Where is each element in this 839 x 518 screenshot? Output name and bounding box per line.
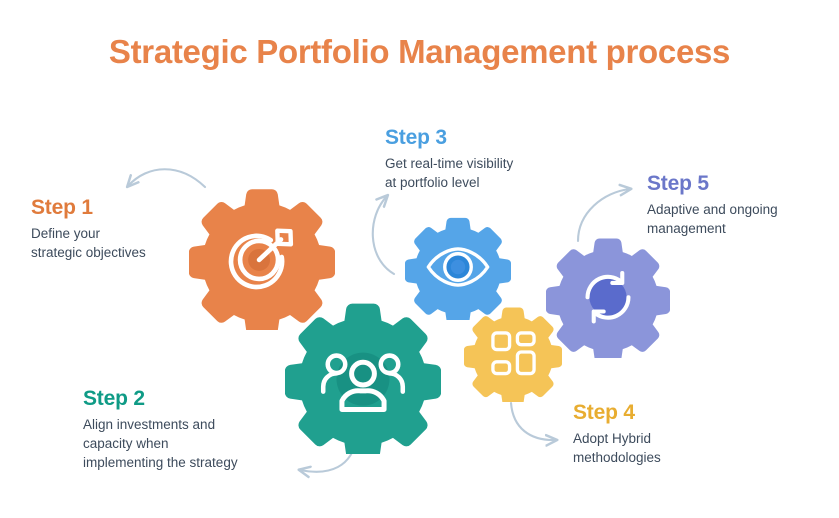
step-3-line-1: Get real-time visibility: [385, 154, 513, 173]
step-4-description: Adopt Hybrid methodologies: [573, 429, 661, 467]
arrow-to-step-3: [373, 196, 394, 274]
step-4-line-1: Adopt Hybrid: [573, 429, 661, 448]
infographic-canvas: Strategic Portfolio Management process: [0, 0, 839, 518]
gear-step-2[interactable]: [285, 298, 441, 454]
step-2-line-2: capacity when: [83, 434, 238, 453]
step-5-line-2: management: [647, 219, 778, 238]
step-5-heading: Step 5: [647, 172, 778, 195]
step-2-line-1: Align investments and: [83, 415, 238, 434]
page-title: Strategic Portfolio Management process: [0, 33, 839, 71]
step-1-line-1: Define your: [31, 224, 146, 243]
step-4-line-2: methodologies: [573, 448, 661, 467]
step-2-line-3: implementing the strategy: [83, 453, 238, 472]
step-block-2: Step 2 Align investments and capacity wh…: [83, 387, 238, 473]
gear-shape-2: [285, 298, 441, 454]
step-2-description: Align investments and capacity when impl…: [83, 415, 238, 472]
step-block-4: Step 4 Adopt Hybrid methodologies: [573, 401, 661, 467]
step-2-heading: Step 2: [83, 387, 238, 410]
arrow-to-step-4: [511, 403, 556, 440]
step-1-heading: Step 1: [31, 196, 146, 219]
step-3-heading: Step 3: [385, 126, 513, 149]
step-3-line-2: at portfolio level: [385, 173, 513, 192]
step-3-description: Get real-time visibility at portfolio le…: [385, 154, 513, 192]
gear-step-5[interactable]: [546, 234, 670, 358]
step-1-description: Define your strategic objectives: [31, 224, 146, 262]
step-block-1: Step 1 Define your strategic objectives: [31, 196, 146, 262]
refresh-sync-icon: [588, 273, 629, 321]
gear-shape-5: [546, 234, 670, 358]
step-4-heading: Step 4: [573, 401, 661, 424]
step-block-5: Step 5 Adaptive and ongoing management: [647, 172, 778, 238]
step-block-3: Step 3 Get real-time visibility at portf…: [385, 126, 513, 192]
step-5-line-1: Adaptive and ongoing: [647, 200, 778, 219]
step-1-line-2: strategic objectives: [31, 243, 146, 262]
step-5-description: Adaptive and ongoing management: [647, 200, 778, 238]
